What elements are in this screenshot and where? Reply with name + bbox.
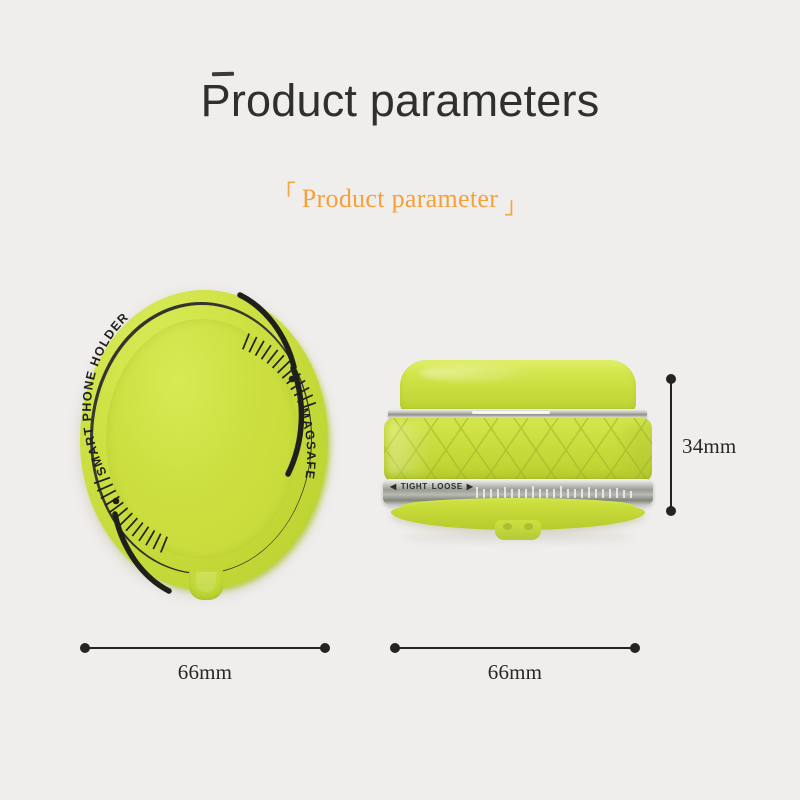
disc-ticks-lower-left [94, 478, 167, 553]
disc-arc-upper-right [240, 295, 294, 367]
product-image-top-view: SMART PHONE HOLDER MAGSAFE [78, 288, 334, 598]
arrow-left-icon: ◀ [390, 483, 397, 491]
side-view-top-lid [400, 360, 636, 412]
band-gloss-left [388, 424, 432, 474]
dimension-label-left-width: 66mm [80, 660, 330, 685]
band-gloss-right [615, 424, 649, 474]
disc-label-upper-text: SMART PHONE HOLDER [80, 310, 132, 478]
bracket-close-icon: 」 [504, 194, 527, 217]
disc-arc-lower-left [115, 514, 169, 591]
dim-bar [86, 647, 324, 649]
dim-bar [396, 647, 634, 649]
page-title: Product parameters [0, 76, 800, 126]
bracket-open-icon: 「 [273, 182, 296, 205]
product-image-side-view: ◀ TIGHT LOOSE ▶ [383, 360, 653, 540]
dimension-label-right-height: 34mm [682, 434, 772, 459]
dimension-line-left-width [80, 641, 330, 655]
subtitle-group: 「 Product parameter 」 [0, 184, 800, 214]
side-view-quilted-band [384, 418, 652, 482]
dim-endpoint-right [630, 643, 640, 653]
disc-markings-overlay: SMART PHONE HOLDER MAGSAFE [78, 288, 334, 598]
tight-label: TIGHT [401, 483, 428, 491]
arrow-right-icon: ▶ [467, 483, 474, 491]
dim-endpoint-right [320, 643, 330, 653]
dimension-label-right-width: 66mm [390, 660, 640, 685]
loose-label: LOOSE [432, 483, 463, 491]
smart-phone-holder-label: SMART PHONE HOLDER [80, 310, 132, 478]
dimension-line-right-width [390, 641, 640, 655]
dim-bar [670, 380, 672, 510]
page-subtitle: Product parameter [302, 184, 498, 214]
dim-endpoint-bottom [666, 506, 676, 516]
product-parameters-page: Product parameters 「 Product parameter 」 [0, 0, 800, 800]
tight-loose-label-group: ◀ TIGHT LOOSE ▶ [390, 483, 474, 491]
dimension-line-right-height [664, 374, 678, 516]
disc-ticks-upper-right [243, 334, 316, 409]
side-view-shadow [403, 532, 633, 542]
